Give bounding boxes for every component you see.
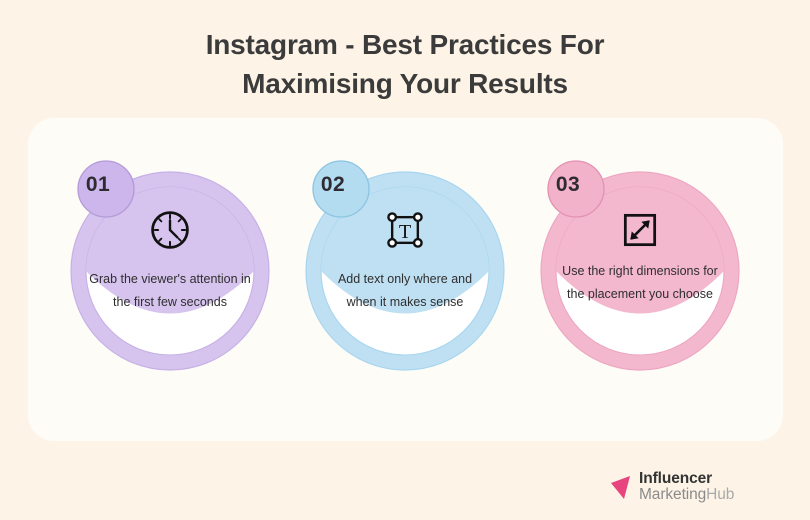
card-text-3: Use the right dimensions for the placeme… — [558, 260, 722, 306]
logo-text-top: Influencer — [639, 471, 734, 487]
practice-card-3: 03 Use the right dimensions for the plac… — [534, 160, 746, 382]
practice-card-1: 01 Grab the viewer's attention in the fi… — [64, 160, 276, 382]
practice-card-2: 02 T Add text only where and when it mak… — [299, 160, 511, 382]
logo-text-marketing: Marketing — [639, 486, 706, 503]
logo-arrow-icon — [611, 472, 637, 502]
page-title: Instagram - Best Practices For Maximisin… — [0, 26, 810, 103]
card-number-2: 02 — [305, 173, 361, 197]
page-title-line-1: Instagram - Best Practices For — [0, 26, 810, 65]
logo-text-bottom: MarketingHub — [639, 487, 734, 503]
card-text-2: Add text only where and when it makes se… — [323, 268, 487, 314]
clock-icon — [64, 208, 276, 252]
logo-text: Influencer MarketingHub — [639, 471, 734, 504]
page-title-line-2: Maximising Your Results — [0, 65, 810, 104]
card-number-3: 03 — [540, 173, 596, 197]
resize-diagonal-icon — [534, 208, 746, 252]
card-number-1: 01 — [70, 173, 126, 197]
text-box-icon: T — [299, 208, 511, 252]
card-text-1: Grab the viewer's attention in the first… — [88, 268, 252, 314]
logo-text-hub: Hub — [706, 486, 734, 503]
brand-logo: Influencer MarketingHub — [611, 466, 776, 508]
svg-text:T: T — [399, 221, 411, 243]
